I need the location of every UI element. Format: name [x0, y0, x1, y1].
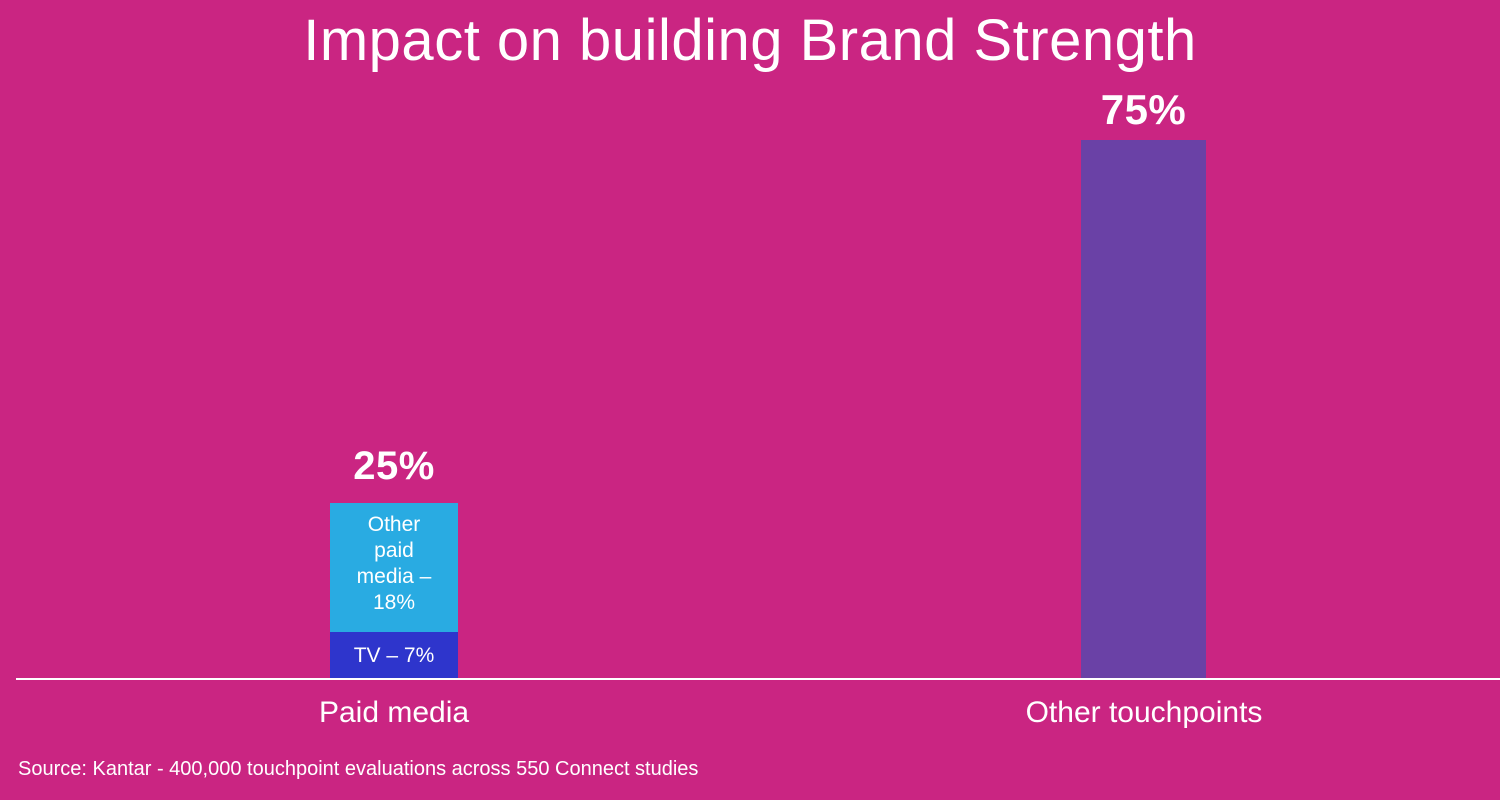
- bar-segment-other-touchpoints[interactable]: [1081, 140, 1206, 679]
- chart-container: Impact on building Brand Strength 25% Ot…: [0, 0, 1500, 800]
- segment-label-line-3: media –: [357, 564, 432, 590]
- segment-label-line-4: 18%: [357, 590, 432, 616]
- bar-stack-paid-media: Other paid media – 18% TV – 7%: [330, 503, 458, 679]
- plot-area: 25% Other paid media – 18% TV – 7% 75%: [0, 0, 1500, 680]
- bar-stack-other-touchpoints: [1081, 140, 1206, 679]
- category-label-paid-media: Paid media: [270, 694, 518, 732]
- bar-segment-label-other-paid-media: Other paid media – 18%: [357, 512, 432, 616]
- bar-segment-other-paid-media[interactable]: Other paid media – 18%: [330, 503, 458, 632]
- bar-segment-label-tv: TV – 7%: [354, 643, 435, 669]
- segment-label-line-2: paid: [357, 538, 432, 564]
- category-label-other-touchpoints: Other touchpoints: [1020, 694, 1268, 732]
- bar-group-paid-media[interactable]: 25% Other paid media – 18% TV – 7%: [330, 0, 458, 680]
- bar-total-label-paid-media: 25%: [270, 444, 518, 488]
- segment-label-line-1: Other: [357, 512, 432, 538]
- bar-group-other-touchpoints[interactable]: 75%: [1081, 0, 1206, 680]
- x-axis-line: [16, 678, 1500, 680]
- bar-total-label-other-touchpoints: 75%: [1020, 88, 1267, 132]
- source-note: Source: Kantar - 400,000 touchpoint eval…: [18, 756, 698, 782]
- bar-segment-tv[interactable]: TV – 7%: [330, 632, 458, 679]
